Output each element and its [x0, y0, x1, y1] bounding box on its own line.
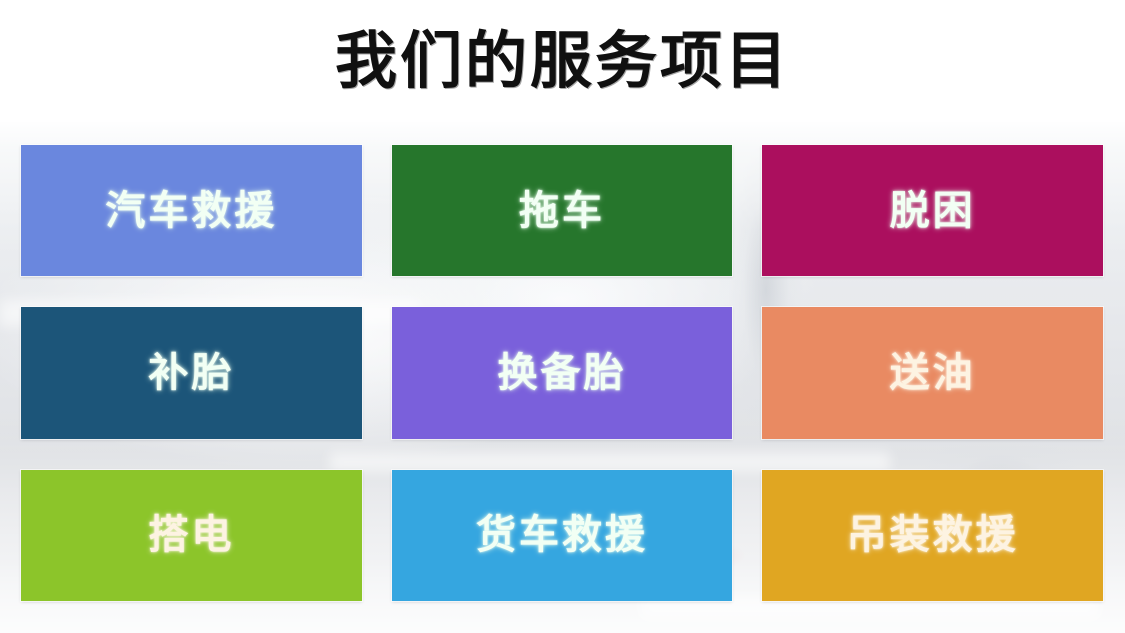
- service-tile-7[interactable]: 货车救援: [392, 470, 733, 601]
- page-title: 我们的服务项目: [335, 30, 790, 92]
- service-grid: 汽车救援 拖车 脱困 补胎 换备胎 送油 搭电 货车救援 吊装救援: [21, 145, 1103, 601]
- service-tile-label: 补胎: [148, 353, 234, 393]
- service-tile-5[interactable]: 送油: [762, 307, 1103, 438]
- service-tile-4[interactable]: 换备胎: [392, 307, 733, 438]
- service-tile-label: 送油: [890, 353, 976, 393]
- service-tile-label: 脱困: [890, 191, 976, 231]
- service-tile-0[interactable]: 汽车救援: [21, 145, 362, 276]
- service-tile-2[interactable]: 脱困: [762, 145, 1103, 276]
- service-tile-3[interactable]: 补胎: [21, 307, 362, 438]
- service-tile-label: 换备胎: [497, 353, 626, 393]
- service-poster: 我们的服务项目 汽车救援 拖车 脱困 补胎 换备胎 送油 搭电 货车救援 吊装救…: [0, 0, 1125, 633]
- title-band: 我们的服务项目: [0, 0, 1125, 122]
- service-tile-label: 吊装救援: [847, 515, 1019, 555]
- service-tile-8[interactable]: 吊装救援: [762, 470, 1103, 601]
- service-tile-label: 汽车救援: [105, 191, 277, 231]
- service-tile-label: 货车救援: [476, 515, 648, 555]
- service-tile-label: 搭电: [148, 515, 234, 555]
- service-tile-label: 拖车: [519, 191, 605, 231]
- service-tile-1[interactable]: 拖车: [392, 145, 733, 276]
- service-tile-6[interactable]: 搭电: [21, 470, 362, 601]
